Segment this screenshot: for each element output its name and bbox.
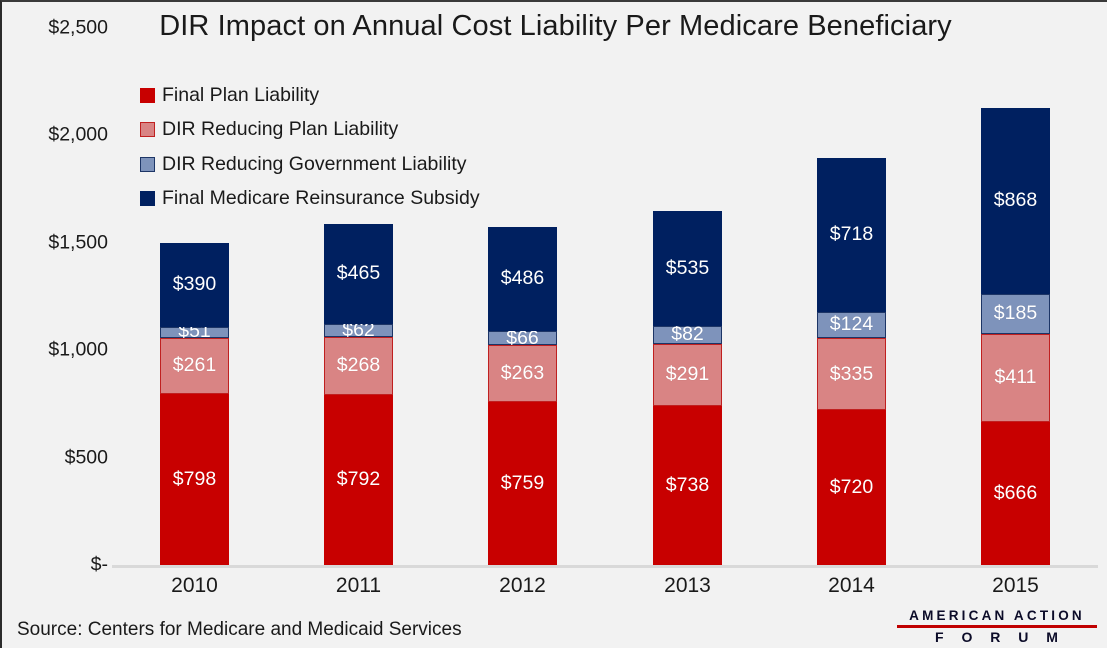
bar-value-label: $720 bbox=[830, 478, 873, 498]
y-axis-tick-label: $- bbox=[8, 554, 108, 577]
legend-color-swatch bbox=[140, 88, 155, 103]
chart-container: DIR Impact on Annual Cost Liability Per … bbox=[0, 0, 1107, 648]
stacked-bar[interactable]: $738$291$82$535 bbox=[653, 211, 722, 565]
source-note: Source: Centers for Medicare and Medicai… bbox=[17, 619, 462, 641]
y-axis-tick-label: $2,500 bbox=[8, 17, 108, 40]
bar-group[interactable]: $738$291$82$535 bbox=[653, 28, 722, 565]
bar-segment[interactable]: $51 bbox=[160, 327, 229, 338]
bar-segment[interactable]: $291 bbox=[653, 344, 722, 407]
x-axis-tick-label: 2015 bbox=[941, 574, 1090, 598]
bar-value-label: $390 bbox=[173, 275, 216, 295]
bar-segment[interactable]: $465 bbox=[324, 224, 393, 324]
y-axis-tick-label: $1,500 bbox=[8, 231, 108, 254]
bar-segment[interactable]: $66 bbox=[488, 331, 557, 345]
bar-value-label: $124 bbox=[830, 315, 873, 335]
american-action-forum-logo: AMERICAN ACTION F O R U M bbox=[897, 608, 1097, 645]
x-axis-tick-label: 2014 bbox=[777, 574, 926, 598]
y-axis-tick-label: $2,000 bbox=[8, 124, 108, 147]
legend-color-swatch bbox=[140, 157, 155, 172]
bar-segment[interactable]: $738 bbox=[653, 406, 722, 565]
bar-value-label: $759 bbox=[501, 474, 544, 494]
bar-value-label: $335 bbox=[830, 365, 873, 385]
bar-value-label: $718 bbox=[830, 225, 873, 245]
bar-segment[interactable]: $261 bbox=[160, 338, 229, 394]
bar-value-label: $82 bbox=[671, 325, 704, 345]
bar-value-label: $268 bbox=[337, 356, 380, 376]
bar-segment[interactable]: $792 bbox=[324, 395, 393, 565]
stacked-bar[interactable]: $720$335$124$718 bbox=[817, 158, 886, 565]
bar-value-label: $535 bbox=[666, 259, 709, 279]
logo-line-2: F O R U M bbox=[897, 630, 1097, 645]
x-axis-tick-label: 2011 bbox=[284, 574, 433, 598]
bar-segment[interactable]: $868 bbox=[981, 108, 1050, 294]
bar-segment[interactable]: $263 bbox=[488, 345, 557, 401]
bar-value-label: $868 bbox=[994, 191, 1037, 211]
bar-segment[interactable]: $535 bbox=[653, 211, 722, 326]
stacked-bar[interactable]: $798$261$51$390 bbox=[160, 243, 229, 565]
bar-segment[interactable]: $82 bbox=[653, 326, 722, 344]
bar-value-label: $798 bbox=[173, 470, 216, 490]
bar-value-label: $291 bbox=[666, 365, 709, 385]
bar-segment[interactable]: $411 bbox=[981, 334, 1050, 422]
y-axis-tick-label: $500 bbox=[8, 446, 108, 469]
bar-value-label: $185 bbox=[994, 304, 1037, 324]
bar-segment[interactable]: $798 bbox=[160, 394, 229, 565]
bar-segment[interactable]: $720 bbox=[817, 410, 886, 565]
bar-value-label: $261 bbox=[173, 356, 216, 376]
x-axis-tick-label: 2012 bbox=[448, 574, 597, 598]
legend-color-swatch bbox=[140, 122, 155, 137]
x-axis-tick-label: 2013 bbox=[613, 574, 762, 598]
bar-value-label: $738 bbox=[666, 476, 709, 496]
y-axis-tick-label: $1,000 bbox=[8, 339, 108, 362]
logo-divider bbox=[897, 625, 1097, 628]
x-axis-tick-label: 2010 bbox=[120, 574, 269, 598]
bar-value-label: $486 bbox=[501, 269, 544, 289]
bar-segment[interactable]: $666 bbox=[981, 422, 1050, 565]
bar-segment[interactable]: $759 bbox=[488, 402, 557, 565]
bar-value-label: $666 bbox=[994, 484, 1037, 504]
legend-color-swatch bbox=[140, 191, 155, 206]
bar-group[interactable]: $792$268$62$465 bbox=[324, 28, 393, 565]
bar-value-label: $465 bbox=[337, 264, 380, 284]
bar-segment[interactable]: $185 bbox=[981, 294, 1050, 334]
bar-value-label: $263 bbox=[501, 364, 544, 384]
stacked-bar[interactable]: $759$263$66$486 bbox=[488, 227, 557, 565]
bar-segment[interactable]: $268 bbox=[324, 337, 393, 395]
bar-segment[interactable]: $62 bbox=[324, 324, 393, 337]
y-axis: $-$500$1,000$1,500$2,000$2,500 bbox=[2, 2, 108, 648]
bar-group[interactable]: $720$335$124$718 bbox=[817, 28, 886, 565]
bar-segment[interactable]: $486 bbox=[488, 227, 557, 331]
logo-line-1: AMERICAN ACTION bbox=[897, 608, 1097, 624]
stacked-bar[interactable]: $792$268$62$465 bbox=[324, 224, 393, 565]
bar-value-label: $792 bbox=[337, 470, 380, 490]
bar-value-label: $411 bbox=[995, 368, 1037, 388]
bar-group[interactable]: $759$263$66$486 bbox=[488, 28, 557, 565]
bar-segment[interactable]: $124 bbox=[817, 312, 886, 339]
bar-group[interactable]: $798$261$51$390 bbox=[160, 28, 229, 565]
bar-group[interactable]: $666$411$185$868 bbox=[981, 28, 1050, 565]
bar-segment[interactable]: $718 bbox=[817, 158, 886, 312]
bar-segment[interactable]: $335 bbox=[817, 338, 886, 410]
bar-segment[interactable]: $390 bbox=[160, 243, 229, 327]
stacked-bar[interactable]: $666$411$185$868 bbox=[981, 107, 1050, 565]
bar-value-label: $66 bbox=[506, 329, 539, 349]
